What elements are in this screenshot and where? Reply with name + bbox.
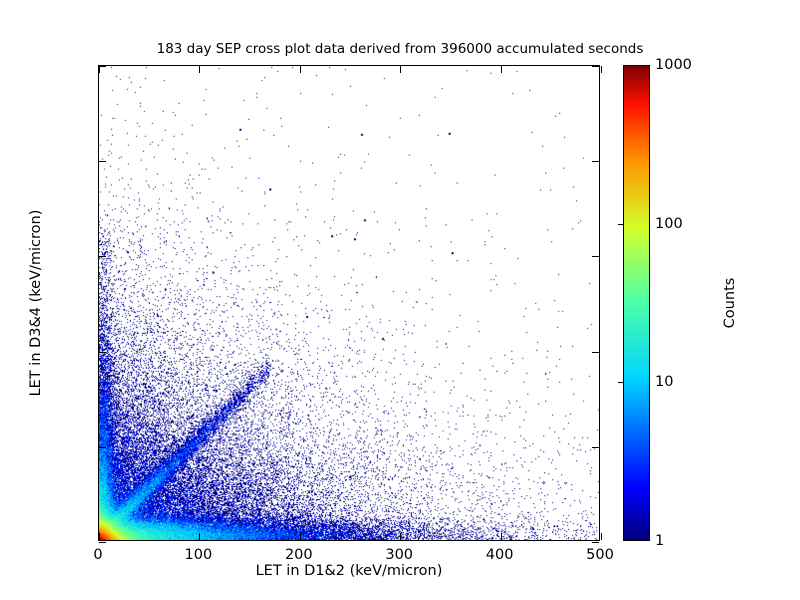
figure-canvas: 183 day SEP cross plot data derived from… [0, 0, 800, 600]
colorbar-tick-100 [618, 224, 624, 225]
x-tick-300 [400, 66, 401, 73]
x-tick-200 [300, 533, 301, 540]
y-tick-500 [592, 66, 599, 67]
x-ticklabel-400: 400 [460, 548, 540, 563]
y-tick-0 [99, 542, 106, 543]
y-tick-0 [592, 542, 599, 543]
x-tick-500 [601, 66, 602, 73]
y-tick-100 [99, 447, 106, 448]
x-ticklabel-300: 300 [359, 548, 439, 563]
y-axis-label: LET in D3&4 (keV/micron) [28, 65, 44, 541]
x-ticklabel-0: 0 [58, 548, 138, 563]
colorbar-ticklabel-1: 1 [655, 534, 664, 549]
x-ticklabel-200: 200 [259, 548, 339, 563]
x-tick-0 [99, 533, 100, 540]
x-tick-0 [99, 66, 100, 73]
x-axis-label: LET in D1&2 (keV/micron) [98, 563, 600, 579]
scatter-density-plot [99, 66, 599, 540]
colorbar-ticklabel-10: 10 [655, 375, 673, 390]
colorbar-ticklabel-1000: 1000 [655, 58, 692, 73]
y-tick-200 [99, 352, 106, 353]
x-ticklabel-100: 100 [158, 548, 238, 563]
colorbar-gradient [624, 66, 649, 540]
x-tick-500 [601, 533, 602, 540]
colorbar [623, 65, 650, 541]
x-tick-100 [199, 533, 200, 540]
y-tick-400 [592, 161, 599, 162]
x-ticklabel-500: 500 [560, 548, 640, 563]
y-tick-400 [99, 161, 106, 162]
x-tick-300 [400, 533, 401, 540]
y-tick-300 [592, 256, 599, 257]
colorbar-label: Counts [722, 65, 738, 541]
x-tick-400 [501, 66, 502, 73]
x-tick-200 [300, 66, 301, 73]
y-tick-100 [592, 447, 599, 448]
y-tick-300 [99, 256, 106, 257]
x-tick-100 [199, 66, 200, 73]
x-tick-400 [501, 533, 502, 540]
colorbar-ticklabel-100: 100 [655, 217, 683, 232]
title-line-1: 183 day SEP cross plot data derived from… [0, 41, 800, 58]
colorbar-tick-10 [618, 382, 624, 383]
y-tick-200 [592, 352, 599, 353]
y-tick-500 [99, 66, 106, 67]
plot-axes [98, 65, 600, 541]
